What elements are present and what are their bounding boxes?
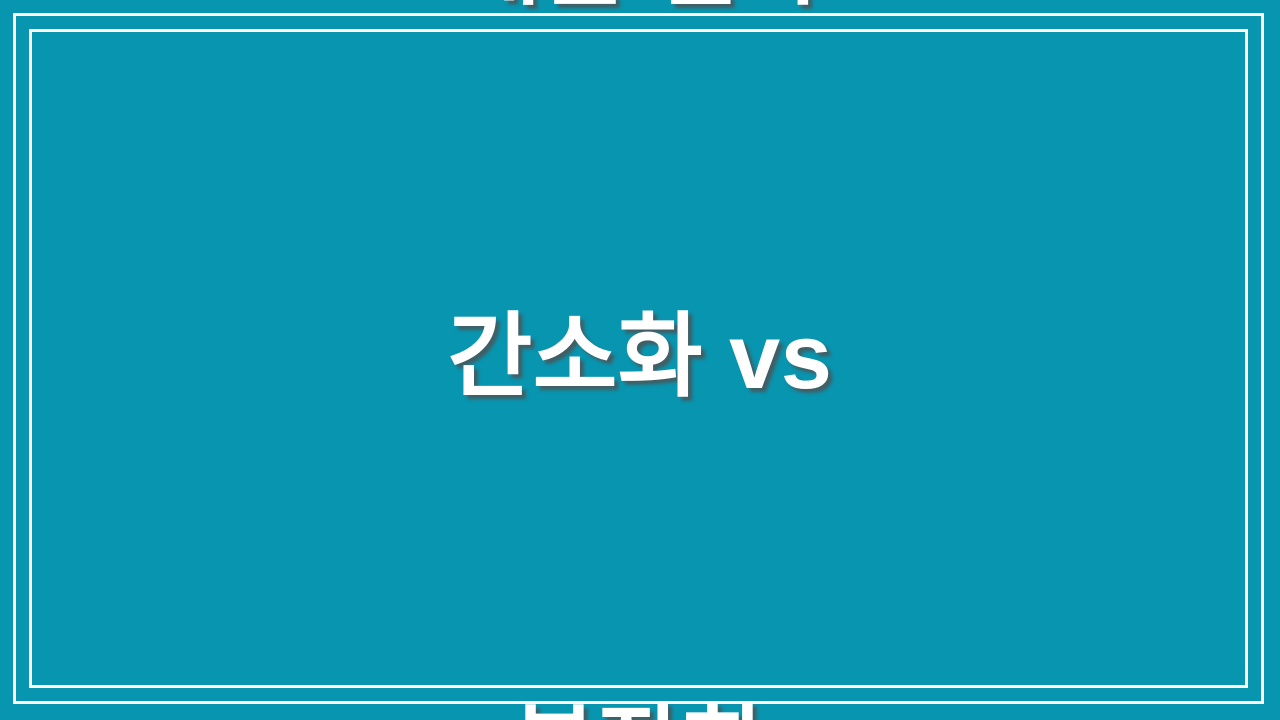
page-title: 대출 절차 간소화 vs 복잡화 xyxy=(448,0,833,720)
title-container: 대출 절차 간소화 vs 복잡화 xyxy=(0,0,1280,720)
title-line-2: 간소화 vs xyxy=(448,292,833,423)
title-line-1: 대출 절차 xyxy=(448,0,833,30)
title-line-3: 복잡화 xyxy=(448,684,833,720)
title-slide: 대출 절차 간소화 vs 복잡화 xyxy=(0,0,1280,720)
